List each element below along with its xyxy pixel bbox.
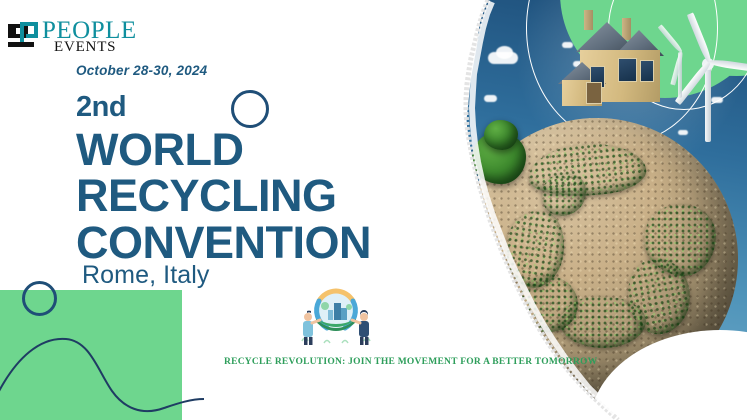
brand-name-secondary: EVENTS (54, 40, 116, 55)
event-title-line-2: RECYCLING (76, 173, 436, 219)
house-door (586, 82, 602, 104)
chimney (584, 10, 593, 30)
recycle-arrow-leaf (560, 296, 646, 348)
event-title-line-3: CONVENTION (76, 220, 436, 266)
wind-turbine-mast (705, 62, 711, 142)
brand-logo[interactable]: PEOPLE EVENTS (8, 18, 138, 62)
chimney (622, 18, 631, 40)
house-window (640, 60, 654, 82)
event-title-line-1: WORLD (76, 127, 436, 173)
decorative-ring-bottom (22, 281, 57, 316)
tree-icon (484, 120, 518, 150)
house-window (618, 58, 637, 82)
decorative-ring-top (231, 90, 269, 128)
cloud-icon (678, 130, 688, 135)
event-title: WORLD RECYCLING CONVENTION (76, 127, 436, 266)
poster-canvas: PEOPLE EVENTS October 28-30, 2024 2nd WO… (0, 0, 747, 420)
cloud-icon (496, 46, 513, 59)
people-holding-eco-globe-illustration (294, 283, 378, 347)
event-date: October 28-30, 2024 (76, 63, 207, 78)
event-edition: 2nd (76, 93, 126, 122)
house-illustration (550, 6, 670, 116)
cloud-icon (484, 95, 497, 102)
event-tagline: RECYCLE REVOLUTION: JOIN THE MOVEMENT FO… (224, 357, 597, 367)
event-location: Rome, Italy (82, 261, 210, 290)
people-events-logo-mark (8, 22, 42, 54)
